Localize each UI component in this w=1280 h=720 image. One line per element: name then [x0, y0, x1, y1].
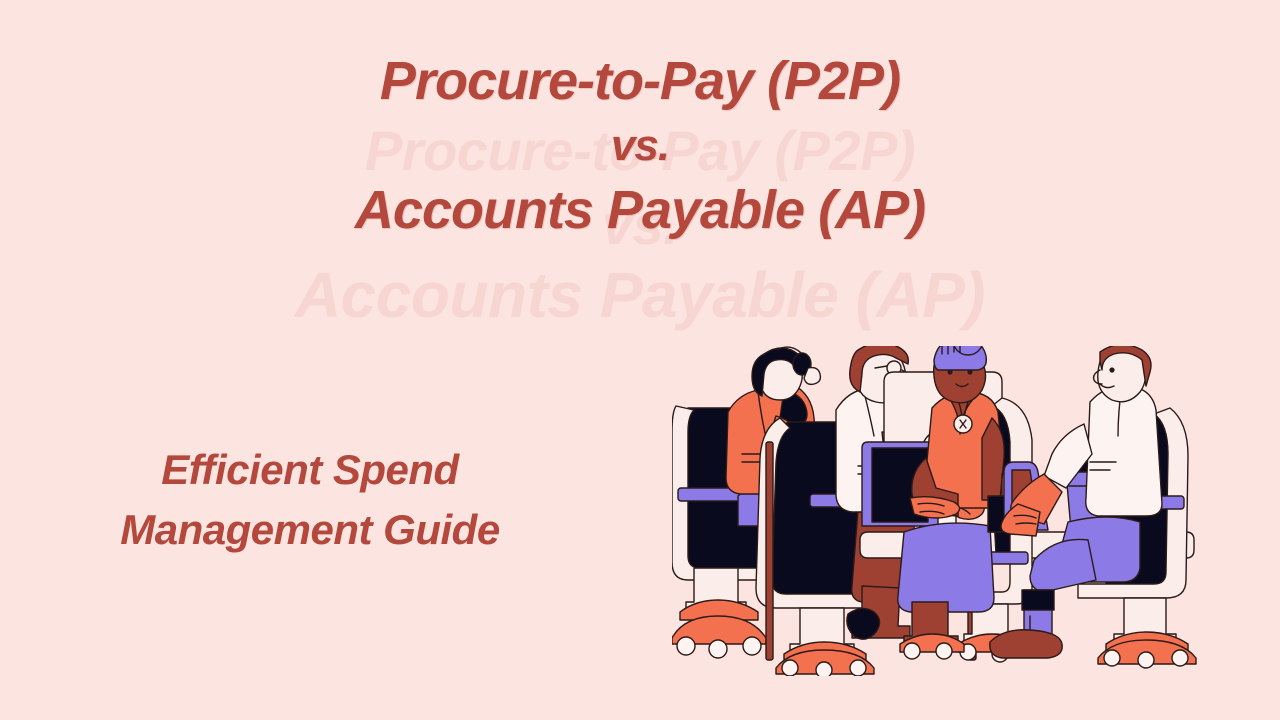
page-title: Procure-to-Pay (P2P) vs. Accounts Payabl… — [0, 48, 1280, 244]
title-line-vs: vs. — [0, 115, 1280, 177]
title-line-1: Procure-to-Pay (P2P) — [0, 48, 1280, 115]
office-team-meeting-illustration: .st { stroke:#2B1A18; stroke-width:1.4; … — [672, 346, 1216, 676]
title-line-2: Accounts Payable (AP) — [0, 177, 1280, 244]
poster-canvas: Procure-to-Pay (P2P) vs. Accounts Payabl… — [0, 0, 1280, 720]
watermark-line-3: Accounts Payable (AP) — [0, 258, 1280, 332]
subtitle-line-1: Efficient Spend — [0, 440, 620, 500]
page-subtitle: Efficient Spend Management Guide — [0, 440, 620, 560]
subtitle-line-2: Management Guide — [0, 500, 620, 560]
